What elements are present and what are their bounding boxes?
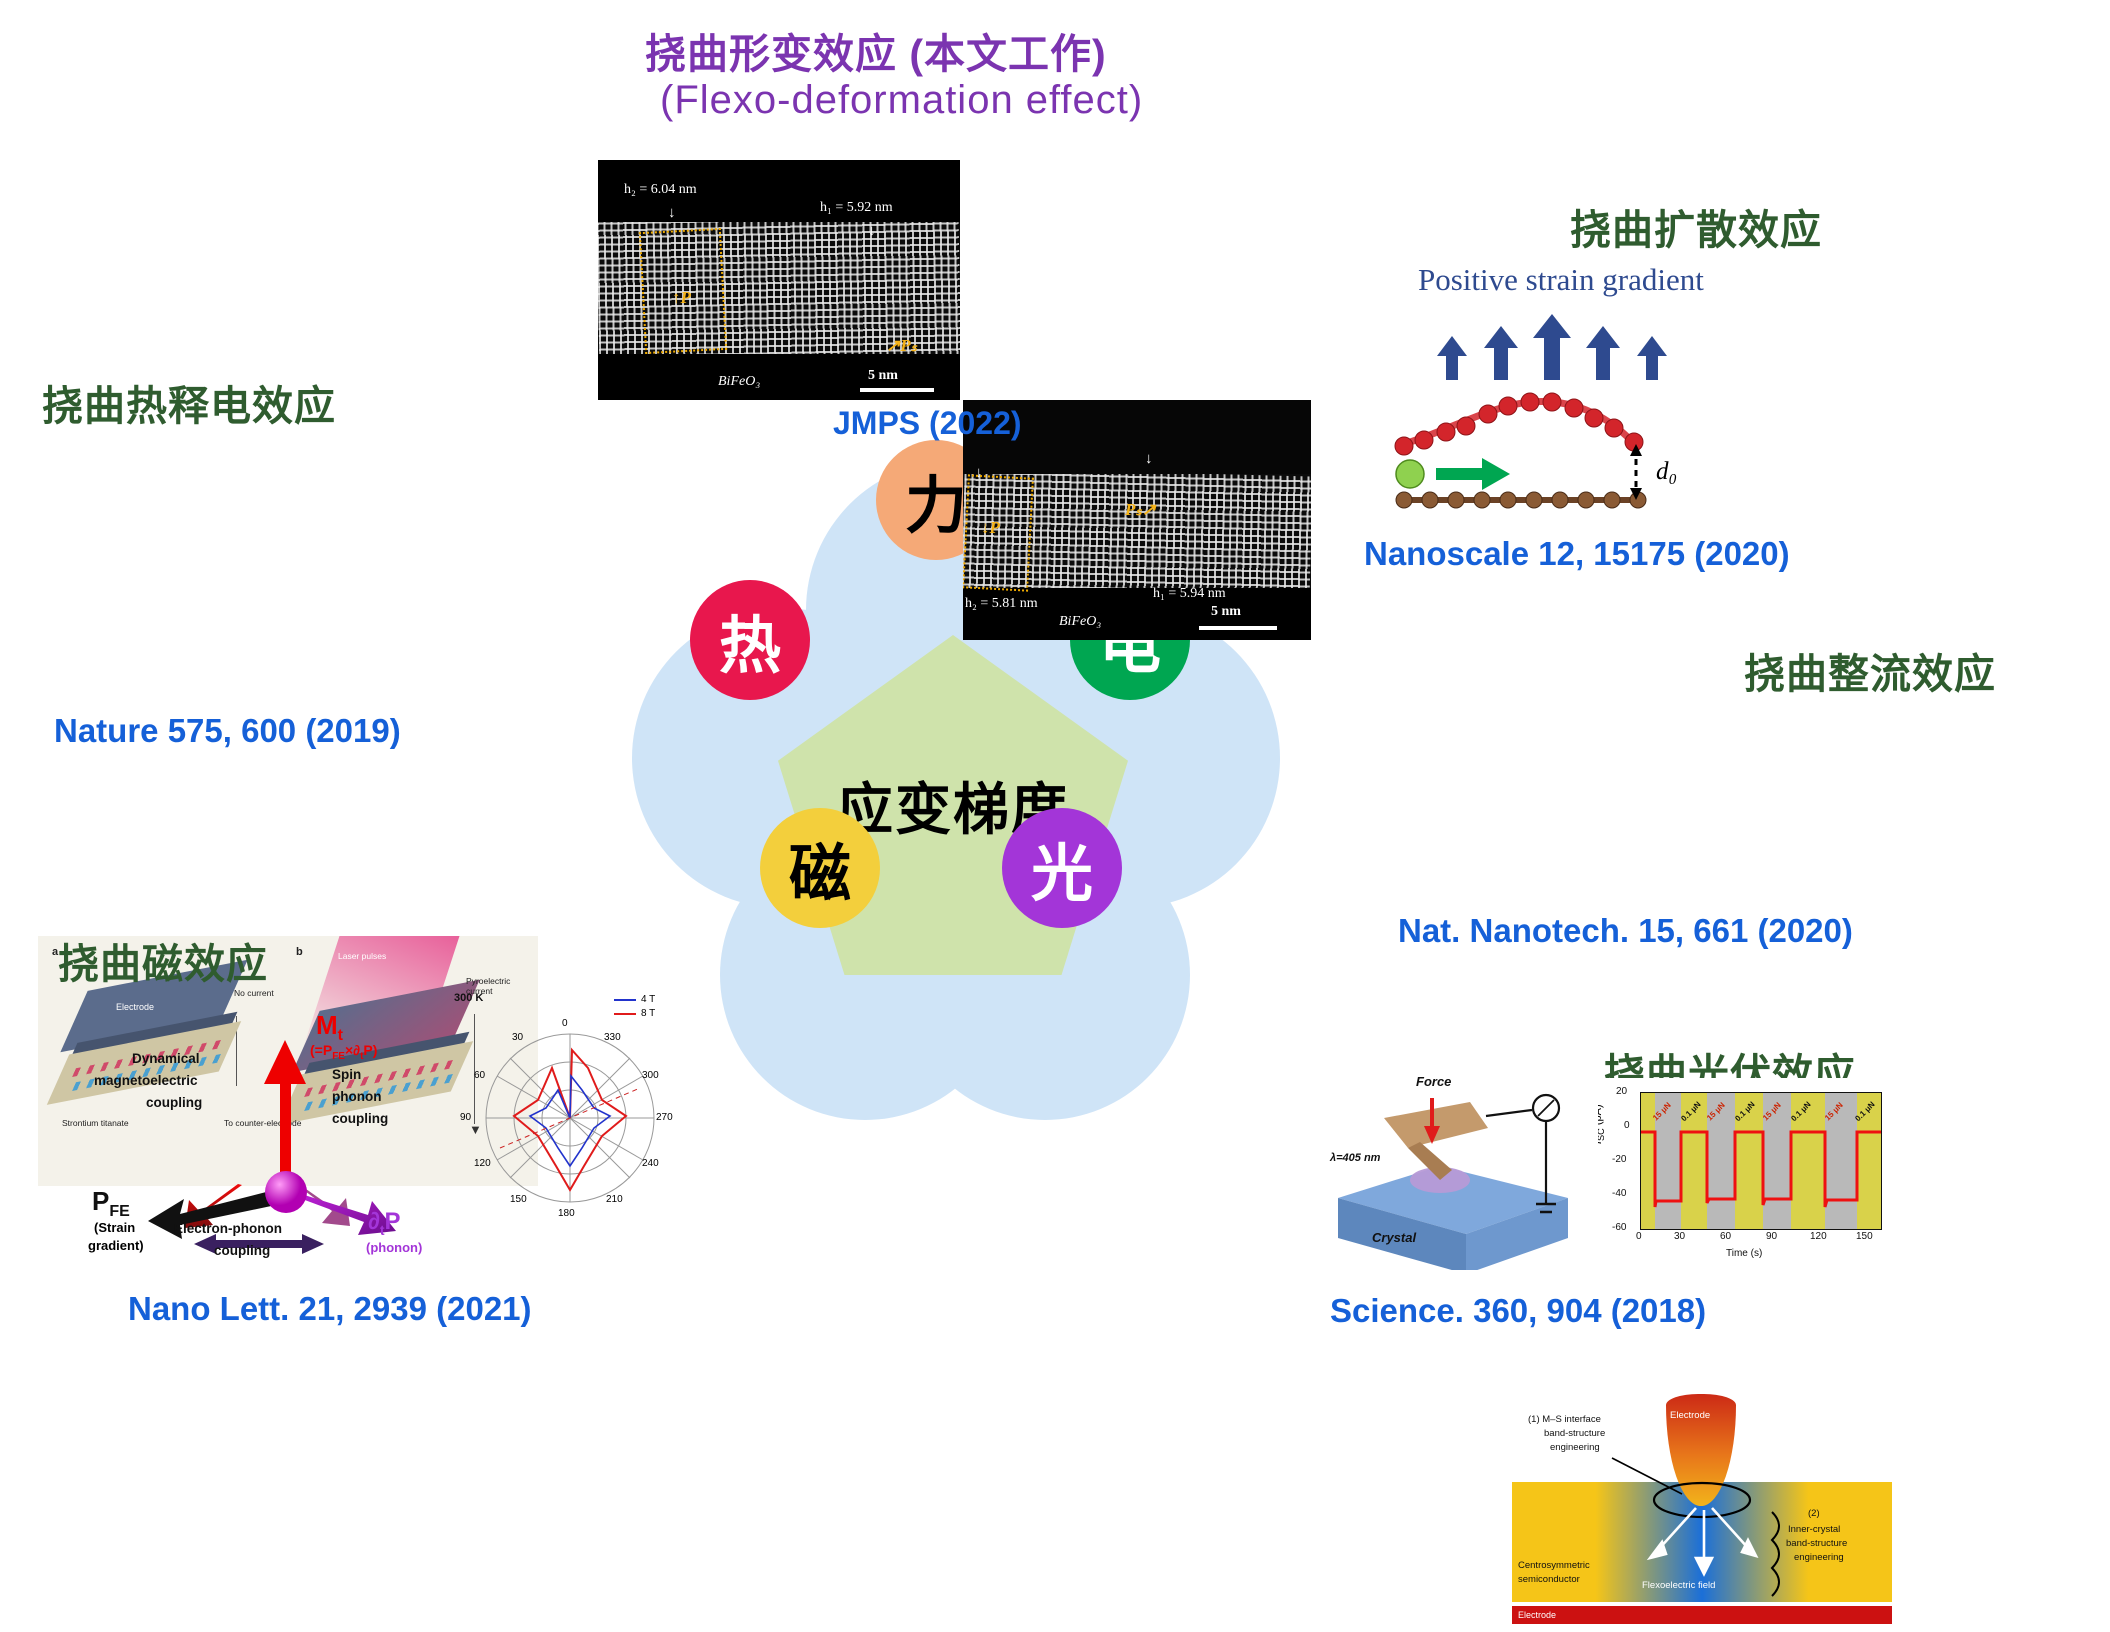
xtick-0: 0 xyxy=(1636,1231,1642,1242)
bubble-mechanical-label: 力 xyxy=(905,455,967,545)
tem-right-scalebar-label: 5 nm xyxy=(1211,604,1241,620)
ref-natnanotech[interactable]: Nat. Nanotech. 15, 661 (2020) xyxy=(1398,912,1853,950)
ytick-20: 20 xyxy=(1616,1086,1627,1097)
tem-right-h1: h₁ = 5.94 nm xyxy=(1153,586,1226,602)
strain-gradient-arrows xyxy=(1380,262,1860,512)
photocurrent-chart: ISC (pA) 20 0 -20 -40 -60 15 μN 0.1 μN 1… xyxy=(1598,1078,1898,1268)
ytick-0: 0 xyxy=(1624,1120,1630,1131)
pyro-laser-pulses-label: Laser pulses xyxy=(338,952,386,962)
bubble-magnetic[interactable]: 磁 xyxy=(760,808,880,928)
flexo-diffusion-title: 挠曲扩散效应 xyxy=(1570,196,1822,256)
photocurrent-trace xyxy=(1641,1093,1881,1229)
substrate-label-line1: Centrosymmetric xyxy=(1518,1560,1590,1571)
ref-nanoscale[interactable]: Nanoscale 12, 15175 (2020) xyxy=(1364,535,1790,573)
polar-tick-0: 0 xyxy=(562,1018,568,1029)
bubble-optical-label: 光 xyxy=(1031,823,1093,913)
rect-note2-line1: Inner-crystal xyxy=(1788,1524,1840,1535)
rectification-figure: (1) M–S interface band-structure enginee… xyxy=(1490,1382,1920,1632)
rect-note2-line3: engineering xyxy=(1794,1552,1844,1563)
dynamical-label-2: magnetoelectric xyxy=(94,1074,198,1089)
electron-phonon-label-2: coupling xyxy=(214,1244,270,1259)
diffusing-particle xyxy=(1396,460,1424,488)
tem-left-arrow-h2: ↓ xyxy=(668,204,676,221)
dynamical-label-1: Dynamical xyxy=(132,1052,200,1067)
polar-tick-30: 30 xyxy=(512,1032,523,1043)
tem-right-h2: h₂ = 5.81 nm xyxy=(965,596,1038,612)
tem-right-scalebar xyxy=(1199,626,1277,630)
xtick-30: 30 xyxy=(1674,1231,1685,1242)
ref-jmps[interactable]: JMPS (2022) xyxy=(833,405,1022,442)
polar-tick-300: 300 xyxy=(642,1070,659,1081)
rect-annotations xyxy=(1490,1382,1920,1632)
tem-image-left: h₂ = 6.04 nm h₁ = 5.92 nm ↓ ↓ ↑P ↗Pₛ BiF… xyxy=(598,160,960,400)
polar-tick-90: 90 xyxy=(460,1112,471,1123)
crystal-label: Crystal xyxy=(1372,1230,1416,1245)
rect-note2-line2: band-structure xyxy=(1786,1538,1847,1549)
chart-plot-area: 15 μN 0.1 μN 15 μN 0.1 μN 15 μN 0.1 μN 1… xyxy=(1640,1092,1882,1230)
tem-left-scalebar-label: 5 nm xyxy=(868,368,898,384)
electron-phonon-label-1: Electron-phonon xyxy=(174,1222,282,1237)
bubble-magnetic-label: 磁 xyxy=(789,823,851,913)
flexo-rectification-title: 挠曲整流效应 xyxy=(1744,640,1996,700)
ytick-m60: -60 xyxy=(1612,1222,1626,1233)
force-label: Force xyxy=(1416,1074,1451,1089)
mt-label: Mt xyxy=(316,1010,343,1045)
pfe-note-1: (Strain xyxy=(94,1220,135,1235)
polar-tick-330: 330 xyxy=(604,1032,621,1043)
xtick-90: 90 xyxy=(1766,1231,1777,1242)
ref-nanolett[interactable]: Nano Lett. 21, 2939 (2021) xyxy=(128,1290,532,1328)
dtp-note: (phonon) xyxy=(366,1240,422,1255)
tem-left-spontaneous-polarization: ↗Pₛ xyxy=(886,336,917,356)
ref-nature[interactable]: Nature 575, 600 (2019) xyxy=(54,712,401,750)
ref-science[interactable]: Science. 360, 904 (2018) xyxy=(1330,1292,1706,1330)
pfe-note-2: gradient) xyxy=(88,1238,144,1253)
pyro-panel-b-label: b xyxy=(296,946,303,959)
photovoltaic-schematic: Force λ=405 nm Crystal xyxy=(1320,1070,1590,1270)
tem-left-h2: h₂ = 6.04 nm xyxy=(624,182,697,198)
diffusion-figure: Positive strain gradient xyxy=(1380,262,1860,512)
chart-ylabel: ISC (pA) xyxy=(1598,1104,1606,1144)
tem-right-material: BiFeO₃ xyxy=(1059,614,1101,630)
mt-equation: (=PFE×∂tP) xyxy=(310,1042,377,1062)
flexo-deformation-title-cn: 挠曲形变效应 (本文工作) xyxy=(645,20,1107,80)
polar-tick-270: 270 xyxy=(656,1112,673,1123)
tem-right-arrow-h1-top: ↓ xyxy=(1145,450,1153,467)
wavelength-label: λ=405 nm xyxy=(1330,1152,1380,1164)
tem-left-arrow-h1: ↓ xyxy=(868,222,876,239)
flexo-pyroelectric-title: 挠曲热释电效应 xyxy=(42,372,336,432)
tem-left-material: BiFeO₃ xyxy=(718,374,760,390)
polar-tick-120: 120 xyxy=(474,1158,491,1169)
rect-note2-number: (2) xyxy=(1808,1508,1820,1519)
flexo-deformation-title-en: (Flexo-deformation effect) xyxy=(660,78,1143,123)
polar-plot: 300 K 4 T 8 T 0 30 60 90 120 150 180 210 xyxy=(452,990,702,1220)
polar-axes xyxy=(452,990,702,1220)
polar-tick-60: 60 xyxy=(474,1070,485,1081)
substrate-label-line2: semiconductor xyxy=(1518,1574,1580,1585)
bubble-thermal-label: 热 xyxy=(719,595,781,685)
ytick-m40: -40 xyxy=(1612,1188,1626,1199)
tem-left-polarization: ↑P xyxy=(672,288,691,308)
spin-phonon-label-2: phonon xyxy=(332,1090,381,1105)
bubble-thermal[interactable]: 热 xyxy=(690,580,810,700)
tem-left-scalebar xyxy=(860,388,934,392)
ytick-m20: -20 xyxy=(1612,1154,1626,1165)
bubble-optical[interactable]: 光 xyxy=(1002,808,1122,928)
tem-left-h1: h₁ = 5.92 nm xyxy=(820,200,893,216)
dtp-label: ∂tP xyxy=(368,1208,401,1238)
mt-symbol: M xyxy=(316,1010,338,1040)
magnetoelectric-figure: Mt (=PFE×∂tP) Dynamical magnetoelectric … xyxy=(88,1000,448,1265)
tem-right-polarization: ↓P xyxy=(981,518,1000,538)
dynamical-label-3: coupling xyxy=(146,1096,202,1111)
flexo-magnetic-title: 挠曲磁效应 xyxy=(58,930,268,990)
flexoelectric-field-label: Flexoelectric field xyxy=(1642,1580,1715,1591)
crystal-3d xyxy=(1320,1070,1590,1270)
xtick-150: 150 xyxy=(1856,1231,1873,1242)
polar-tick-180: 180 xyxy=(558,1208,575,1219)
polar-tick-150: 150 xyxy=(510,1194,527,1205)
polar-tick-240: 240 xyxy=(642,1158,659,1169)
spin-phonon-label-3: coupling xyxy=(332,1112,388,1127)
polar-tick-210: 210 xyxy=(606,1194,623,1205)
pfe-label: PFE xyxy=(92,1186,130,1221)
xtick-60: 60 xyxy=(1720,1231,1731,1242)
spin-phonon-label-1: Spin xyxy=(332,1068,361,1083)
tem-right-spontaneous-polarization: Pₛ↗ xyxy=(1125,500,1156,520)
xtick-120: 120 xyxy=(1810,1231,1827,1242)
d0-label: d₀ xyxy=(1656,458,1677,486)
chart-xlabel: Time (s) xyxy=(1726,1248,1762,1259)
